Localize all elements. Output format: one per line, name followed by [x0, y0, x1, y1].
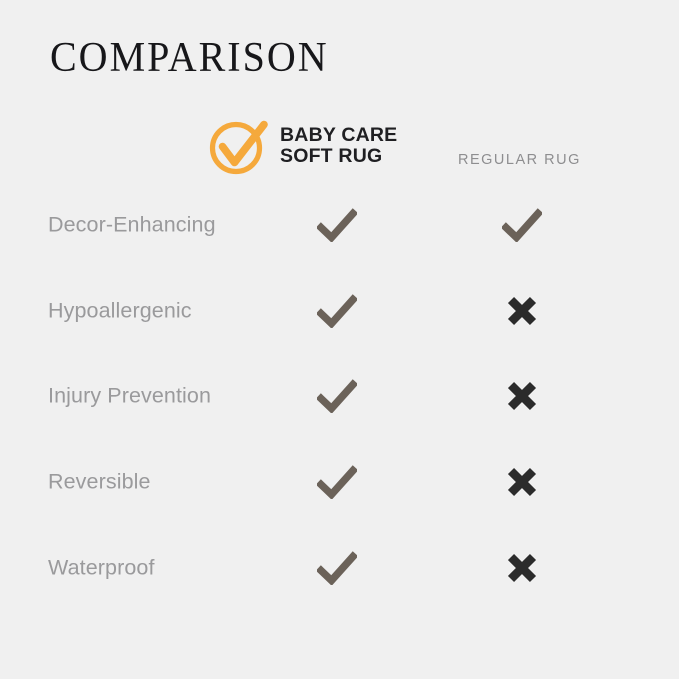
feature-label: Hypoallergenic [48, 299, 192, 324]
cross-icon [505, 465, 539, 499]
check-icon [317, 208, 357, 242]
feature-label: Injury Prevention [48, 384, 211, 409]
cell-baby_care_soft_rug [311, 202, 363, 248]
table-row: Waterproof [0, 542, 679, 594]
feature-label: Waterproof [48, 556, 155, 581]
feature-label: Decor-Enhancing [48, 213, 216, 238]
cell-baby_care_soft_rug [311, 459, 363, 505]
check-icon [502, 208, 542, 242]
cross-icon [505, 294, 539, 328]
check-icon [317, 465, 357, 499]
check-icon [317, 379, 357, 413]
feature-label: Reversible [48, 470, 151, 495]
check-icon [317, 551, 357, 585]
table-row: Injury Prevention [0, 370, 679, 422]
table-row: Reversible [0, 456, 679, 508]
cell-regular_rug [496, 373, 548, 419]
cell-baby_care_soft_rug [311, 288, 363, 334]
comparison-chart: COMPARISON BABY CARE SOFT RUG REGULAR RU… [0, 0, 679, 679]
cell-regular_rug [496, 202, 548, 248]
cross-icon [505, 379, 539, 413]
cell-regular_rug [496, 288, 548, 334]
cell-regular_rug [496, 545, 548, 591]
check-icon [317, 294, 357, 328]
cross-icon [505, 551, 539, 585]
comparison-rows: Decor-EnhancingHypoallergenicInjury Prev… [0, 0, 679, 679]
table-row: Hypoallergenic [0, 285, 679, 337]
cell-baby_care_soft_rug [311, 545, 363, 591]
cell-regular_rug [496, 459, 548, 505]
table-row: Decor-Enhancing [0, 199, 679, 251]
cell-baby_care_soft_rug [311, 373, 363, 419]
